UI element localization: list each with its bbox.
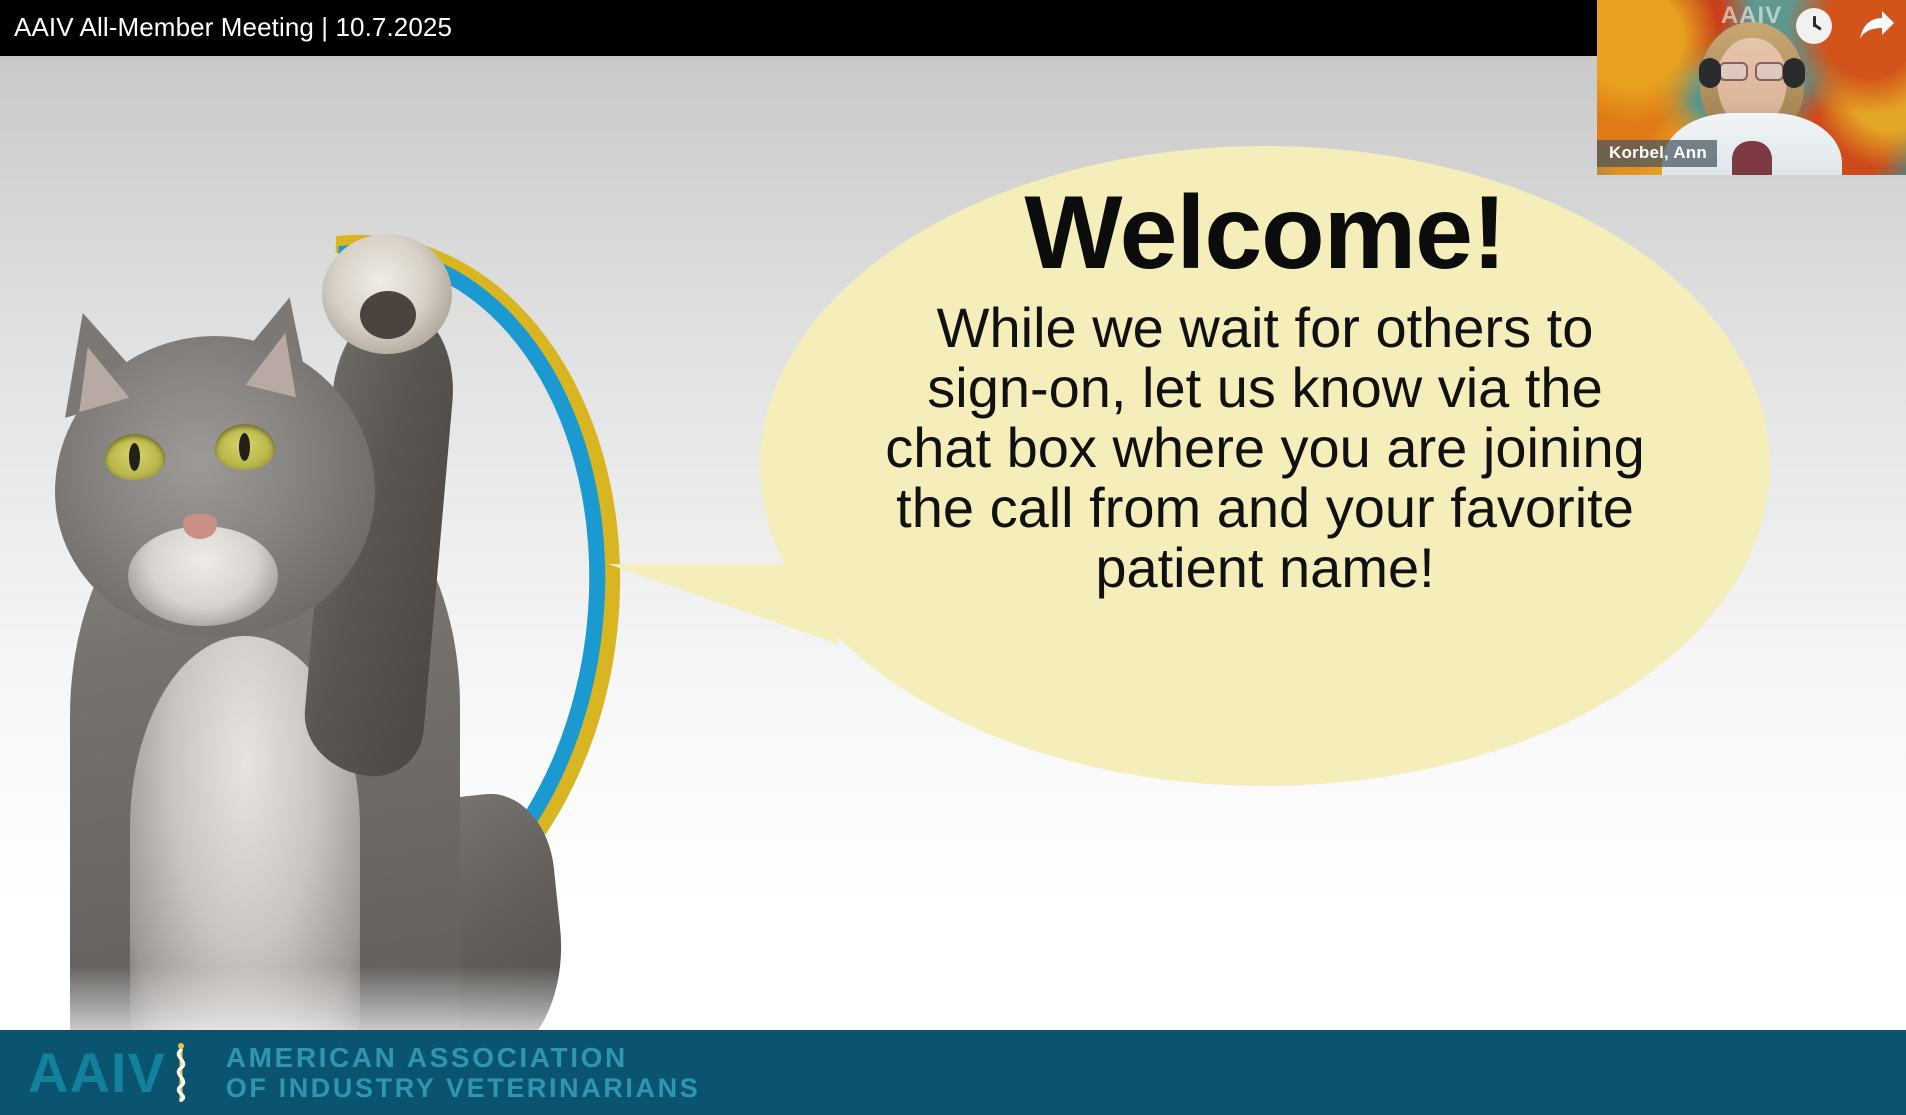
aaiv-footer-banner: AAIV AMERICAN ASSOCIATION OF INDUSTRY VE… xyxy=(0,1030,1906,1115)
cat-pupil-right xyxy=(239,433,250,461)
speech-bubble: Welcome! While we wait for others to sig… xyxy=(760,146,1770,786)
cat-pupil-left xyxy=(129,443,140,471)
cat-eye-left xyxy=(105,434,165,480)
cat-eye-right xyxy=(215,424,275,470)
headset-earcup-left xyxy=(1699,58,1721,88)
caduceus-icon xyxy=(168,1042,194,1104)
participant-name-badge: Korbel, Ann xyxy=(1597,140,1717,167)
cat-muzzle xyxy=(128,526,278,626)
video-player-stage: AAIV All-Member Meeting | 10.7.2025 xyxy=(0,0,1906,1115)
presentation-slide: Welcome! While we wait for others to sig… xyxy=(0,56,1906,1115)
clock-icon[interactable] xyxy=(1796,8,1832,44)
welcome-heading: Welcome! xyxy=(1024,180,1505,286)
speaker-collar xyxy=(1732,141,1772,175)
player-overlay-actions xyxy=(1796,8,1896,44)
aaiv-org-line-2: OF INDUSTRY VETERINARIANS xyxy=(226,1073,701,1103)
aaiv-logo-text: AAIV xyxy=(28,1045,166,1101)
aaiv-logo: AAIV xyxy=(28,1042,196,1104)
video-title[interactable]: AAIV All-Member Meeting | 10.7.2025 xyxy=(14,12,452,43)
speaker-eyeglass-right xyxy=(1755,62,1784,81)
participant-video-tile[interactable]: AAIV Korbel, Ann xyxy=(1597,0,1906,175)
cat-paw-pad xyxy=(360,291,416,339)
aaiv-wordmark: AMERICAN ASSOCIATION OF INDUSTRY VETERIN… xyxy=(226,1042,701,1104)
welcome-body-text: While we wait for others to sign-on, let… xyxy=(870,298,1660,598)
headset-earcup-right xyxy=(1783,58,1805,88)
cat-illustration xyxy=(10,156,670,1086)
speaker-eyeglass-left xyxy=(1719,62,1748,81)
aaiv-org-line-1: AMERICAN ASSOCIATION xyxy=(226,1042,701,1073)
share-arrow-icon[interactable] xyxy=(1858,9,1896,43)
